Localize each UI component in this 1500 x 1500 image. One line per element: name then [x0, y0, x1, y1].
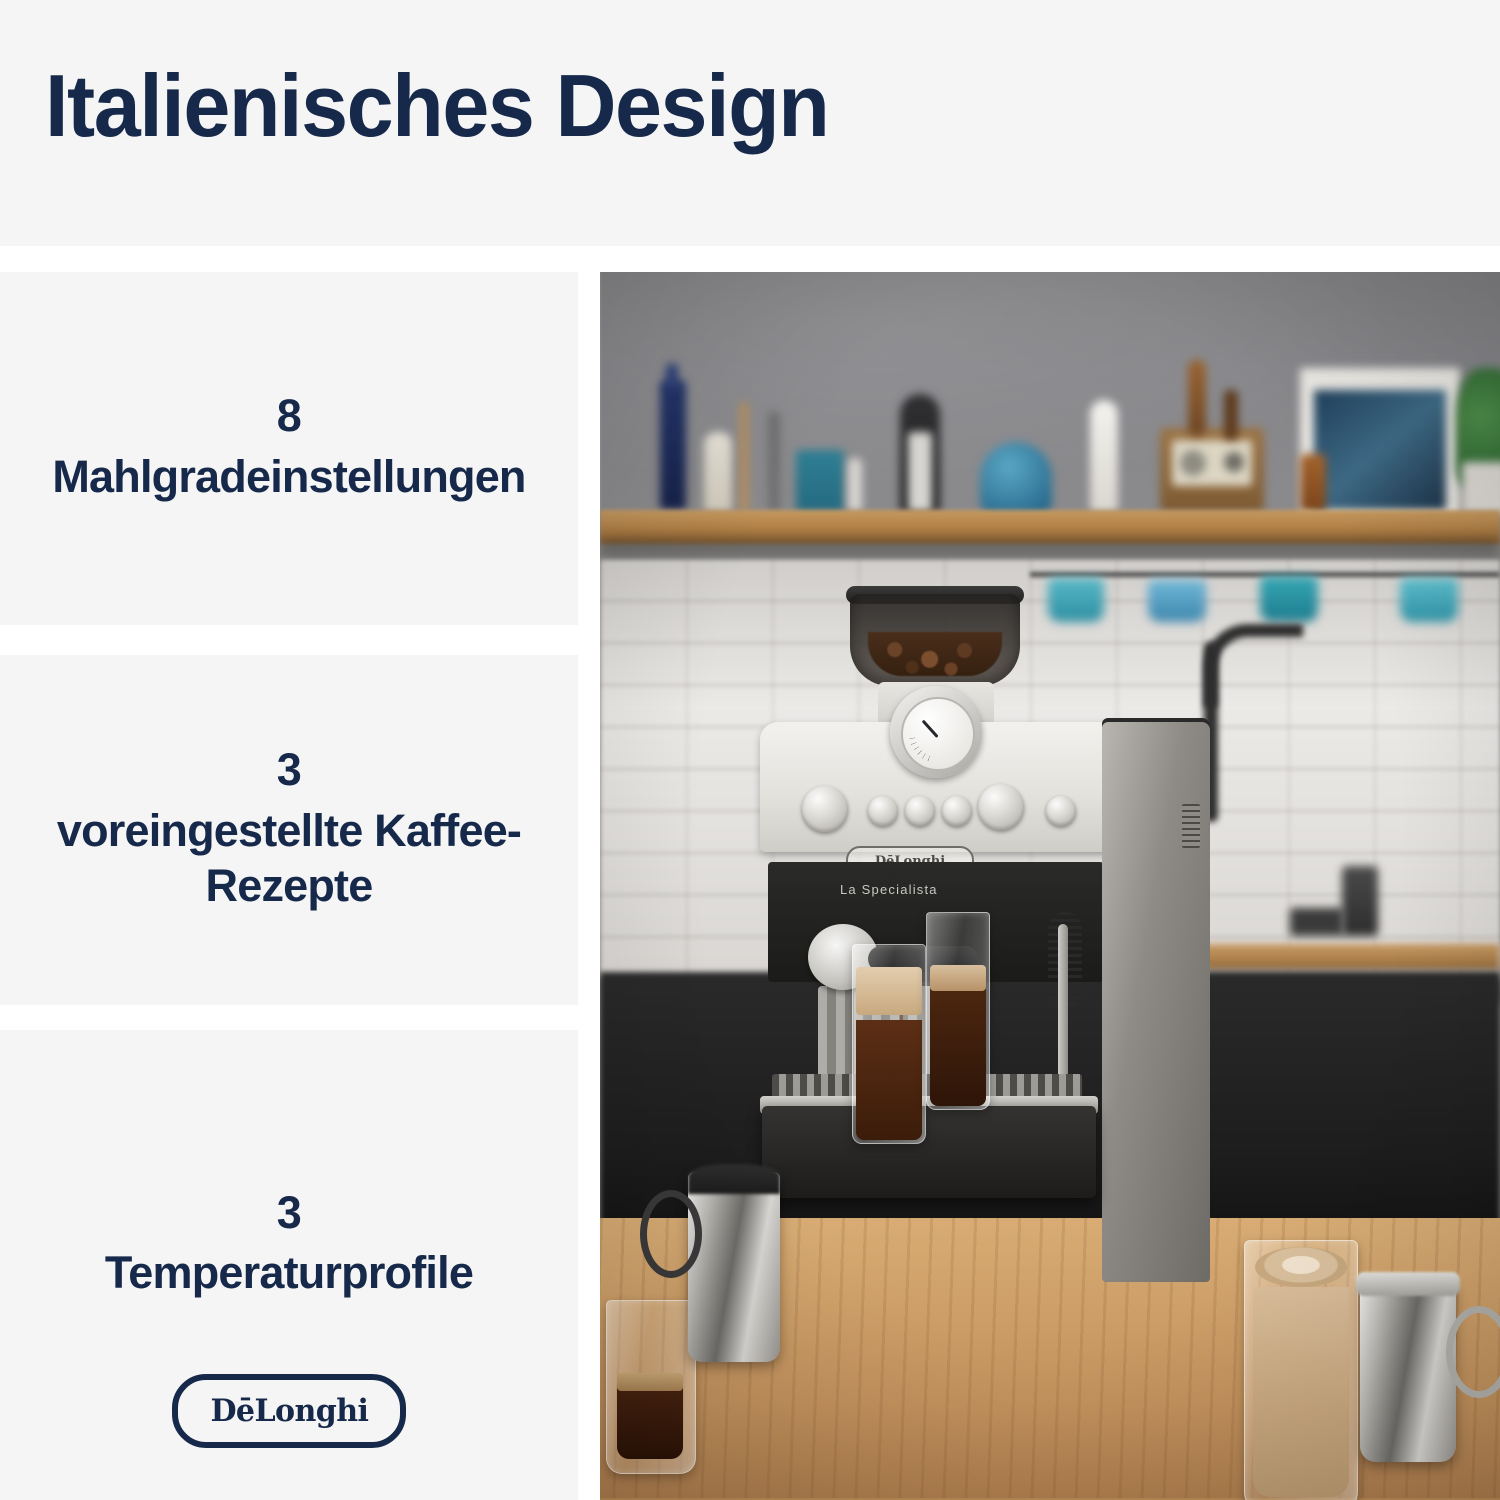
drip-tray	[762, 1106, 1096, 1198]
latte-glass	[1244, 1240, 1358, 1500]
menu-button[interactable]	[942, 796, 972, 826]
shelf-utensil	[768, 412, 780, 512]
header-panel: Italienisches Design	[0, 0, 1500, 246]
feature-label: voreingestellte Kaffee-Rezepte	[29, 804, 549, 914]
espresso-glass	[606, 1300, 696, 1474]
logo-pill: DēLonghi	[172, 1374, 406, 1448]
shelf-vase-blue	[980, 442, 1052, 514]
ok-button[interactable]	[905, 796, 935, 826]
shelf-figurine	[1188, 360, 1206, 436]
coffee-glass-front	[852, 944, 926, 1144]
coffee-beans	[868, 632, 1002, 676]
coffee-liquid	[930, 978, 986, 1106]
milk-pitcher-right	[1360, 1280, 1456, 1462]
shelf-grinder-body	[908, 432, 932, 512]
shelf-radio-dial	[1224, 452, 1244, 472]
infographic-page: Italienisches Design 8 Mahlgradeinstellu…	[0, 0, 1500, 1500]
espresso-crema	[617, 1373, 683, 1391]
milk-pitcher-left	[688, 1172, 780, 1362]
shelf-bottle-navy	[660, 380, 686, 510]
counter-canister	[1342, 866, 1378, 936]
page-title: Italienisches Design	[45, 62, 828, 150]
shelf-planter	[1462, 462, 1500, 514]
hanging-mug	[1260, 576, 1318, 622]
machine-vent	[1182, 804, 1200, 848]
hanging-mug	[1400, 578, 1458, 622]
espresso-liquid	[617, 1381, 683, 1459]
pressure-gauge	[890, 686, 982, 778]
feature-panel-coffee-recipes: 3 voreingestellte Kaffee-Rezepte	[0, 655, 578, 1005]
shelf-vase-teal	[796, 450, 844, 512]
shelf-candle-tall	[1090, 400, 1118, 512]
machine-model-text: La Specialista	[840, 882, 938, 897]
feature-panel-grind-settings: 8 Mahlgradeinstellungen	[0, 272, 578, 625]
coffee-crema	[930, 965, 986, 991]
shelf-amber-bottle	[1300, 454, 1326, 512]
coffee-glass-back	[926, 912, 990, 1110]
function-selector-knob[interactable]	[978, 784, 1024, 830]
feature-label: Temperaturprofile	[105, 1246, 473, 1301]
coffee-crema	[856, 967, 922, 1015]
gauge-face	[901, 697, 975, 771]
counter-object	[1290, 908, 1344, 936]
milk-pitcher-right-rim	[1356, 1272, 1460, 1296]
shelf-candle-white	[704, 432, 732, 512]
feature-number: 3	[277, 1189, 302, 1236]
wooden-shelf	[600, 510, 1500, 544]
feature-label: Mahlgradeinstellungen	[52, 450, 525, 505]
shelf-picture-art	[1314, 390, 1446, 510]
coffee-liquid	[856, 1020, 922, 1140]
shelf-bottle-small	[848, 458, 862, 512]
grind-amount-knob[interactable]	[802, 786, 848, 832]
logo-text: DēLonghi	[210, 1396, 368, 1427]
shelf-bottle-neck	[666, 364, 678, 390]
product-photo: DēLonghi La Specialista	[600, 272, 1500, 1500]
shelf-radio-speaker	[1180, 450, 1206, 476]
shelf-small-bottle	[1224, 390, 1238, 440]
feature-number: 3	[277, 746, 302, 793]
feature-column: 8 Mahlgradeinstellungen 3 voreingestellt…	[0, 272, 578, 1500]
dose-button[interactable]	[868, 796, 898, 826]
steam-button[interactable]	[1046, 796, 1076, 826]
latte-art	[1255, 1247, 1347, 1287]
shelf-stick	[740, 402, 748, 512]
latte-liquid	[1253, 1287, 1349, 1497]
brand-logo: DēLonghi	[0, 1374, 578, 1448]
feature-number: 8	[277, 392, 302, 439]
milk-pitcher-left-handle	[640, 1190, 702, 1278]
milk-pitcher-left-rim	[688, 1164, 780, 1194]
gauge-ticks	[909, 705, 967, 763]
